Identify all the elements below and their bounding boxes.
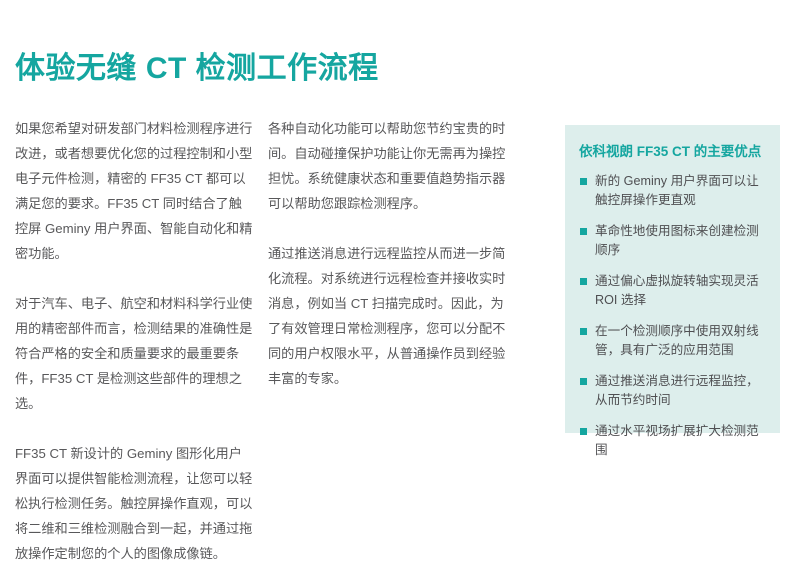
- list-item-label: 通过偏心虚拟旋转轴实现灵活 ROI 选择: [595, 274, 759, 307]
- paragraph: 如果您希望对研发部门材料检测程序进行改进，或者想要优化您的过程控制和小型电子元件…: [15, 116, 253, 266]
- list-item: 革命性地使用图标来创建检测顺序: [579, 222, 766, 260]
- list-item: 通过偏心虚拟旋转轴实现灵活 ROI 选择: [579, 272, 766, 310]
- list-item: 通过推送消息进行远程监控，从而节约时间: [579, 372, 766, 410]
- square-bullet-icon: [580, 178, 587, 185]
- square-bullet-icon: [580, 228, 587, 235]
- paragraph: 通过推送消息进行远程监控从而进一步简化流程。对系统进行远程检查并接收实时消息，例…: [268, 241, 506, 391]
- paragraph: 各种自动化功能可以帮助您节约宝贵的时间。自动碰撞保护功能让你无需再为操控担忧。系…: [268, 116, 506, 216]
- square-bullet-icon: [580, 428, 587, 435]
- square-bullet-icon: [580, 378, 587, 385]
- body-column-right: 各种自动化功能可以帮助您节约宝贵的时间。自动碰撞保护功能让你无需再为操控担忧。系…: [268, 116, 506, 391]
- page-title: 体验无缝 CT 检测工作流程: [15, 50, 379, 88]
- list-item: 新的 Geminy 用户界面可以让触控屏操作更直观: [579, 172, 766, 210]
- list-item: 在一个检测顺序中使用双射线管，具有广泛的应用范围: [579, 322, 766, 360]
- list-item-label: 新的 Geminy 用户界面可以让触控屏操作更直观: [595, 174, 759, 207]
- list-item-label: 革命性地使用图标来创建检测顺序: [595, 224, 759, 257]
- paragraph: FF35 CT 新设计的 Geminy 图形化用户界面可以提供智能检测流程，让您…: [15, 441, 253, 566]
- key-benefits-panel: 依科视朗 FF35 CT 的主要优点 新的 Geminy 用户界面可以让触控屏操…: [565, 125, 780, 433]
- list-item-label: 在一个检测顺序中使用双射线管，具有广泛的应用范围: [595, 324, 759, 357]
- document-page: 体验无缝 CT 检测工作流程 如果您希望对研发部门材料检测程序进行改进，或者想要…: [0, 0, 800, 542]
- list-item-label: 通过水平视场扩展扩大检测范围: [595, 424, 759, 457]
- square-bullet-icon: [580, 278, 587, 285]
- panel-title: 依科视朗 FF35 CT 的主要优点: [579, 143, 766, 162]
- benefits-list: 新的 Geminy 用户界面可以让触控屏操作更直观 革命性地使用图标来创建检测顺…: [579, 172, 766, 460]
- paragraph: 对于汽车、电子、航空和材料科学行业使用的精密部件而言，检测结果的准确性是符合严格…: [15, 291, 253, 416]
- list-item: 通过水平视场扩展扩大检测范围: [579, 422, 766, 460]
- body-column-left: 如果您希望对研发部门材料检测程序进行改进，或者想要优化您的过程控制和小型电子元件…: [15, 116, 253, 566]
- list-item-label: 通过推送消息进行远程监控，从而节约时间: [595, 374, 759, 407]
- square-bullet-icon: [580, 328, 587, 335]
